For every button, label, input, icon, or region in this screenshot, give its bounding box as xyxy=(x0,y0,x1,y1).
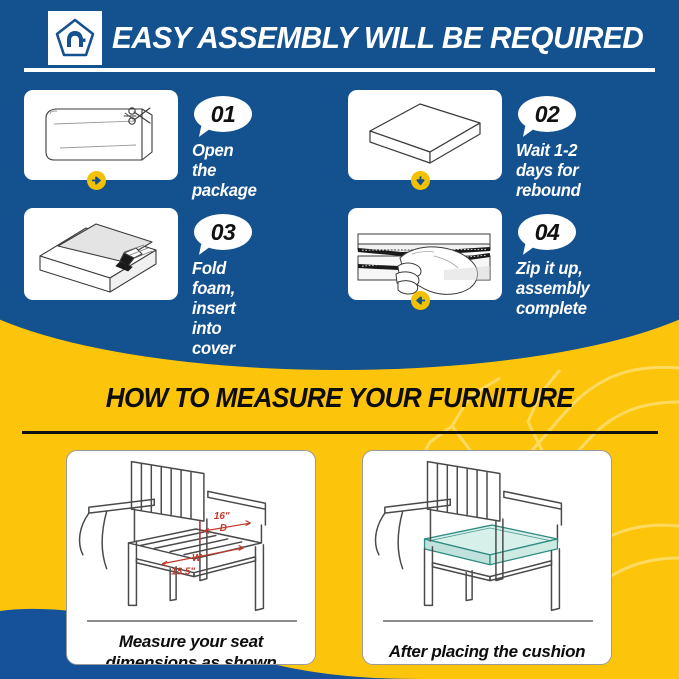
step-03-number: 03 xyxy=(211,219,236,246)
measure-panel-cushion: After placing the cushion xyxy=(362,450,612,665)
depth-label: D xyxy=(220,523,227,534)
measure-panel-caption: Measure your seat dimensions as shown xyxy=(67,631,315,665)
step-04-label: Zip it up, assembly complete xyxy=(516,258,590,318)
panel-divider xyxy=(87,620,297,622)
hand-zipping-cover-icon xyxy=(348,208,502,300)
step-03-illustration-card xyxy=(24,208,178,300)
assembly-header: EASY ASSEMBLY WILL BE REQUIRED xyxy=(0,0,679,78)
measure-panel-dimensions: 16" D W 18.5" Measure your seat dimensio… xyxy=(66,450,316,665)
step-03-label: Fold foam, insert into cover xyxy=(192,258,236,358)
measure-section-title: HOW TO MEASURE YOUR FURNITURE xyxy=(24,382,655,414)
foam-folded-into-cover-icon xyxy=(24,208,178,300)
step-02-number: 02 xyxy=(535,101,560,128)
foam-slab-icon xyxy=(348,90,502,180)
step-04-arrow-left-icon xyxy=(411,291,430,310)
depth-value: 16" xyxy=(214,511,230,522)
step-01-arrow-right-icon xyxy=(87,171,106,190)
step-02-number-bubble: 02 xyxy=(518,96,576,132)
measure-panel-caption: After placing the cushion xyxy=(363,641,611,662)
width-value: 18.5" xyxy=(171,567,195,578)
step-02-label: Wait 1-2 days for rebound xyxy=(516,140,581,200)
chair-with-cushion-icon xyxy=(363,451,611,616)
width-label: W xyxy=(192,553,203,564)
house-logo-icon xyxy=(48,11,102,65)
infographic-page: EASY ASSEMBLY WILL BE REQUIRED xyxy=(0,0,679,679)
step-01-label: Open the package xyxy=(192,140,257,200)
step-01-number: 01 xyxy=(211,101,236,128)
step-02-arrow-down-icon xyxy=(411,171,430,190)
step-04-illustration-card xyxy=(348,208,502,300)
step-01-number-bubble: 01 xyxy=(194,96,252,132)
step-02-illustration-card xyxy=(348,90,502,180)
measure-title-divider xyxy=(22,431,658,434)
step-04-number-bubble: 04 xyxy=(518,214,576,250)
panel-divider xyxy=(383,620,593,622)
step-03-number-bubble: 03 xyxy=(194,214,252,250)
header-divider xyxy=(24,68,655,72)
step-04-number: 04 xyxy=(535,219,560,246)
chair-with-dimensions-icon: 16" D W 18.5" xyxy=(67,451,315,616)
step-01-illustration-card xyxy=(24,90,178,180)
assembly-section: EASY ASSEMBLY WILL BE REQUIRED xyxy=(0,0,679,370)
page-title: EASY ASSEMBLY WILL BE REQUIRED xyxy=(112,12,643,64)
package-with-scissors-icon xyxy=(24,90,178,180)
